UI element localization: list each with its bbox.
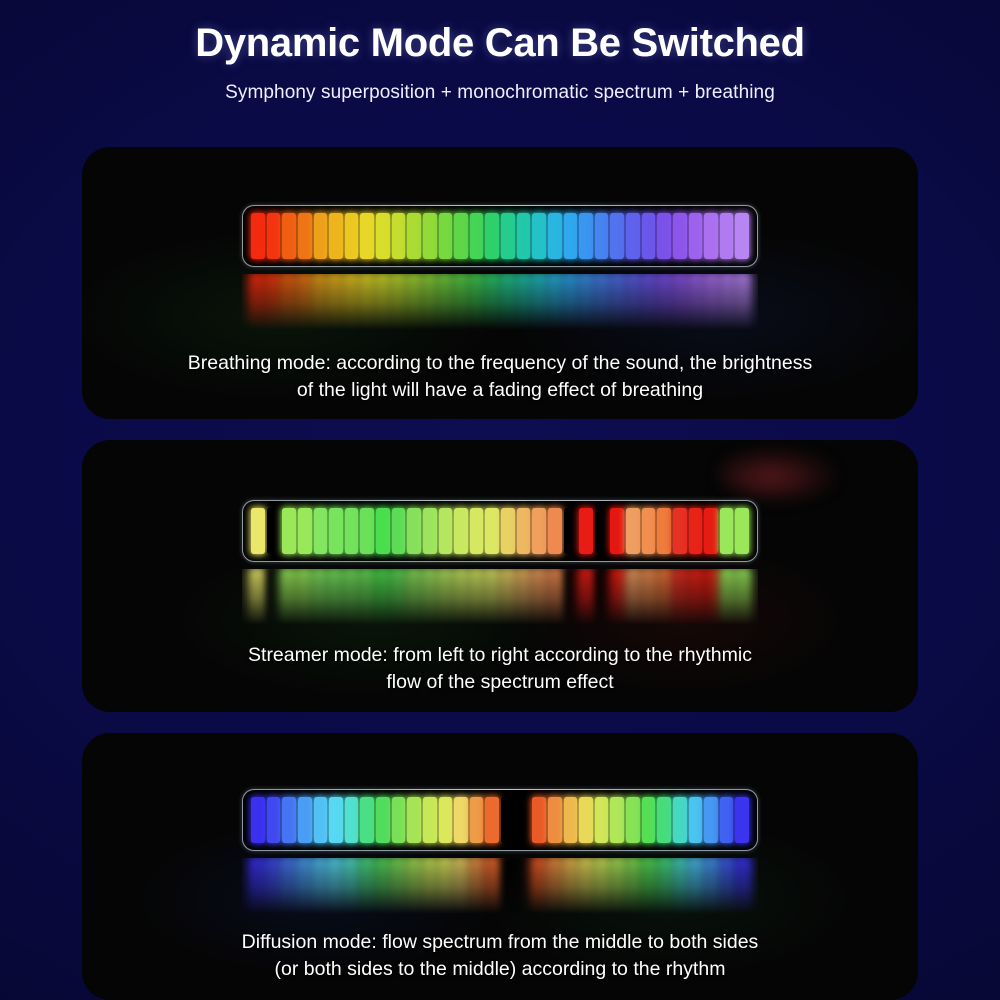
- led-segment: [438, 858, 452, 914]
- led-segment: [454, 858, 468, 914]
- led-segment: [423, 858, 437, 914]
- led-segment: [564, 797, 578, 843]
- led-segment: [407, 569, 421, 625]
- mode-panel-breathing: Breathing mode: according to the frequen…: [82, 147, 918, 419]
- fingertip-blur: [718, 448, 836, 500]
- led-segment: [423, 213, 437, 259]
- led-segment: [689, 797, 703, 843]
- led-segment: [297, 858, 311, 914]
- led-segment: [407, 508, 421, 554]
- led-segment: [548, 274, 562, 330]
- led-segment: [642, 569, 656, 625]
- led-segment: [517, 569, 531, 625]
- led-segment: [642, 213, 656, 259]
- led-segment: [282, 213, 296, 259]
- led-segment: [595, 858, 609, 914]
- led-segment: [454, 508, 468, 554]
- led-segment: [610, 213, 624, 259]
- led-segment: [267, 213, 281, 259]
- led-bar-bezel: [242, 205, 758, 267]
- led-segment: [735, 797, 749, 843]
- led-segment: [627, 569, 641, 625]
- led-segment: [611, 274, 625, 330]
- led-segment: [720, 213, 734, 259]
- led-segment: [627, 274, 641, 330]
- led-segment: [532, 797, 546, 843]
- led-segment: [423, 797, 437, 843]
- led-segment: [689, 858, 703, 914]
- mode-panel-diffusion: Diffusion mode: flow spectrum from the m…: [82, 733, 918, 1000]
- panel-caption: Breathing mode: according to the frequen…: [82, 350, 918, 404]
- led-segment: [657, 797, 671, 843]
- led-segment: [705, 569, 719, 625]
- led-bar-assembly: [82, 205, 918, 330]
- led-segment: [611, 569, 625, 625]
- led-segment: [267, 797, 281, 843]
- led-segment: [407, 858, 421, 914]
- led-segment: [674, 858, 688, 914]
- led-segment: [611, 858, 625, 914]
- led-segment: [485, 213, 499, 259]
- led-segment-off: [267, 508, 281, 554]
- led-segment: [454, 797, 468, 843]
- led-segment: [423, 569, 437, 625]
- led-segment: [266, 858, 280, 914]
- led-bar-bezel: [242, 500, 758, 562]
- panel-caption: Streamer mode: from left to right accord…: [82, 642, 918, 696]
- led-segment: [470, 508, 484, 554]
- led-segment: [251, 508, 265, 554]
- led-segment: [470, 569, 484, 625]
- led-segment: [721, 858, 735, 914]
- caption-line-2: flow of the spectrum effect: [116, 669, 884, 696]
- led-bar-reflection: [242, 858, 758, 914]
- led-segment: [705, 858, 719, 914]
- led-segment: [501, 213, 515, 259]
- led-segment: [736, 274, 750, 330]
- led-segment: [485, 569, 499, 625]
- led-segment: [439, 797, 453, 843]
- led-segment: [673, 508, 687, 554]
- header: Dynamic Mode Can Be Switched Symphony su…: [0, 0, 1000, 104]
- led-segment: [673, 797, 687, 843]
- led-segment: [345, 213, 359, 259]
- caption-line-1: Breathing mode: according to the frequen…: [116, 350, 884, 377]
- led-segment: [298, 508, 312, 554]
- led-segment: [579, 508, 593, 554]
- led-segment: [329, 508, 343, 554]
- led-segment: [548, 213, 562, 259]
- led-bar-assembly: [82, 789, 918, 914]
- led-segment: [298, 797, 312, 843]
- led-segment: [485, 858, 499, 914]
- led-segment: [517, 213, 531, 259]
- led-segment: [485, 508, 499, 554]
- led-segment-off: [501, 858, 515, 914]
- led-segment: [344, 569, 358, 625]
- caption-line-2: of the light will have a fading effect o…: [116, 377, 884, 404]
- led-strip: [251, 213, 749, 259]
- led-segment: [736, 569, 750, 625]
- led-segment: [360, 274, 374, 330]
- led-segment: [470, 213, 484, 259]
- led-segment: [704, 797, 718, 843]
- led-segment: [391, 274, 405, 330]
- led-segment: [266, 274, 280, 330]
- led-segment: [704, 508, 718, 554]
- led-segment: [657, 508, 671, 554]
- caption-line-1: Diffusion mode: flow spectrum from the m…: [116, 929, 884, 956]
- led-bar-assembly: [82, 500, 918, 625]
- led-segment: [595, 274, 609, 330]
- led-segment: [548, 858, 562, 914]
- led-segment: [281, 274, 295, 330]
- led-segment: [626, 508, 640, 554]
- led-segment: [485, 274, 499, 330]
- led-segment: [314, 797, 328, 843]
- led-segment: [297, 569, 311, 625]
- led-segment: [392, 797, 406, 843]
- led-segment: [439, 508, 453, 554]
- led-segment: [251, 797, 265, 843]
- led-segment-off: [564, 508, 578, 554]
- led-segment: [517, 508, 531, 554]
- led-segment: [579, 274, 593, 330]
- led-segment: [376, 569, 390, 625]
- led-segment: [360, 797, 374, 843]
- led-segment: [532, 569, 546, 625]
- led-segment: [720, 508, 734, 554]
- led-segment: [579, 213, 593, 259]
- led-segment: [548, 569, 562, 625]
- caption-line-1: Streamer mode: from left to right accord…: [116, 642, 884, 669]
- led-segment: [439, 213, 453, 259]
- led-segment: [360, 508, 374, 554]
- led-segment: [407, 797, 421, 843]
- led-segment: [735, 508, 749, 554]
- led-segment: [407, 274, 421, 330]
- led-segment: [454, 569, 468, 625]
- led-segment: [657, 213, 671, 259]
- led-strip: [251, 508, 749, 554]
- led-segment-off: [501, 797, 515, 843]
- led-segment: [689, 569, 703, 625]
- led-segment-off: [564, 569, 578, 625]
- led-segment: [658, 274, 672, 330]
- led-segment: [626, 213, 640, 259]
- led-segment: [438, 274, 452, 330]
- led-segment: [579, 569, 593, 625]
- led-segment: [392, 213, 406, 259]
- led-segment: [391, 858, 405, 914]
- led-segment: [313, 274, 327, 330]
- led-segment: [532, 508, 546, 554]
- led-segment: [517, 274, 531, 330]
- led-segment: [658, 858, 672, 914]
- led-segment: [532, 274, 546, 330]
- led-segment-off: [595, 508, 609, 554]
- led-segment: [704, 213, 718, 259]
- led-segment: [391, 569, 405, 625]
- led-bar-reflection: [242, 569, 758, 625]
- led-segment: [610, 508, 624, 554]
- led-segment: [329, 797, 343, 843]
- mode-panel-streamer: Streamer mode: from left to right accord…: [82, 440, 918, 712]
- led-segment: [501, 508, 515, 554]
- led-segment: [658, 569, 672, 625]
- led-segment: [689, 274, 703, 330]
- led-segment: [626, 797, 640, 843]
- led-segment: [282, 797, 296, 843]
- led-segment: [470, 274, 484, 330]
- led-segment: [329, 213, 343, 259]
- led-segment: [250, 858, 264, 914]
- led-segment: [360, 569, 374, 625]
- led-strip: [251, 797, 749, 843]
- led-segment: [407, 213, 421, 259]
- led-segment: [627, 858, 641, 914]
- led-segment: [720, 797, 734, 843]
- led-segment: [595, 213, 609, 259]
- led-segment: [314, 213, 328, 259]
- led-segment-off: [266, 569, 280, 625]
- led-segment: [376, 274, 390, 330]
- led-segment: [721, 274, 735, 330]
- led-segment: [251, 213, 265, 259]
- led-segment: [674, 274, 688, 330]
- led-segment: [328, 858, 342, 914]
- led-segment: [548, 797, 562, 843]
- led-segment: [610, 797, 624, 843]
- led-segment: [313, 858, 327, 914]
- led-segment: [642, 274, 656, 330]
- led-segment: [360, 858, 374, 914]
- led-segment: [392, 508, 406, 554]
- led-segment: [501, 569, 515, 625]
- led-segment: [470, 797, 484, 843]
- led-segment: [705, 274, 719, 330]
- led-segment: [313, 569, 327, 625]
- led-segment: [344, 858, 358, 914]
- led-segment: [579, 858, 593, 914]
- page-title: Dynamic Mode Can Be Switched: [0, 20, 1000, 66]
- led-segment: [328, 274, 342, 330]
- led-segment: [438, 569, 452, 625]
- led-segment: [360, 213, 374, 259]
- led-segment: [298, 213, 312, 259]
- caption-line-2: (or both sides to the middle) according …: [116, 956, 884, 983]
- led-segment: [642, 797, 656, 843]
- led-segment: [250, 569, 264, 625]
- led-segment: [735, 213, 749, 259]
- led-segment: [721, 569, 735, 625]
- led-segment-off: [517, 858, 531, 914]
- led-segment: [548, 508, 562, 554]
- led-segment: [642, 508, 656, 554]
- led-segment: [454, 274, 468, 330]
- led-segment: [281, 569, 295, 625]
- led-segment-off: [517, 797, 531, 843]
- led-segment: [689, 508, 703, 554]
- led-segment: [281, 858, 295, 914]
- led-segment: [564, 213, 578, 259]
- led-segment: [345, 797, 359, 843]
- led-segment: [564, 858, 578, 914]
- led-segment: [345, 508, 359, 554]
- led-segment: [532, 213, 546, 259]
- led-segment: [376, 797, 390, 843]
- led-bar-bezel: [242, 789, 758, 851]
- led-segment: [595, 797, 609, 843]
- led-segment: [328, 569, 342, 625]
- led-segment: [564, 274, 578, 330]
- led-segment: [314, 508, 328, 554]
- led-segment: [736, 858, 750, 914]
- led-segment: [297, 274, 311, 330]
- led-segment: [423, 274, 437, 330]
- led-segment: [376, 508, 390, 554]
- led-segment: [250, 274, 264, 330]
- led-segment: [376, 858, 390, 914]
- led-segment: [642, 858, 656, 914]
- led-segment: [673, 213, 687, 259]
- product-feature-image: Dynamic Mode Can Be Switched Symphony su…: [0, 0, 1000, 1000]
- led-segment: [376, 213, 390, 259]
- led-segment: [689, 213, 703, 259]
- panel-caption: Diffusion mode: flow spectrum from the m…: [82, 929, 918, 983]
- page-subtitle: Symphony superposition + monochromatic s…: [0, 82, 1000, 104]
- led-segment: [470, 858, 484, 914]
- led-bar-reflection: [242, 274, 758, 330]
- led-segment: [532, 858, 546, 914]
- led-segment: [501, 274, 515, 330]
- led-segment: [344, 274, 358, 330]
- led-segment: [485, 797, 499, 843]
- led-segment: [674, 569, 688, 625]
- led-segment: [579, 797, 593, 843]
- led-segment-off: [595, 569, 609, 625]
- led-segment: [454, 213, 468, 259]
- led-segment: [423, 508, 437, 554]
- led-segment: [282, 508, 296, 554]
